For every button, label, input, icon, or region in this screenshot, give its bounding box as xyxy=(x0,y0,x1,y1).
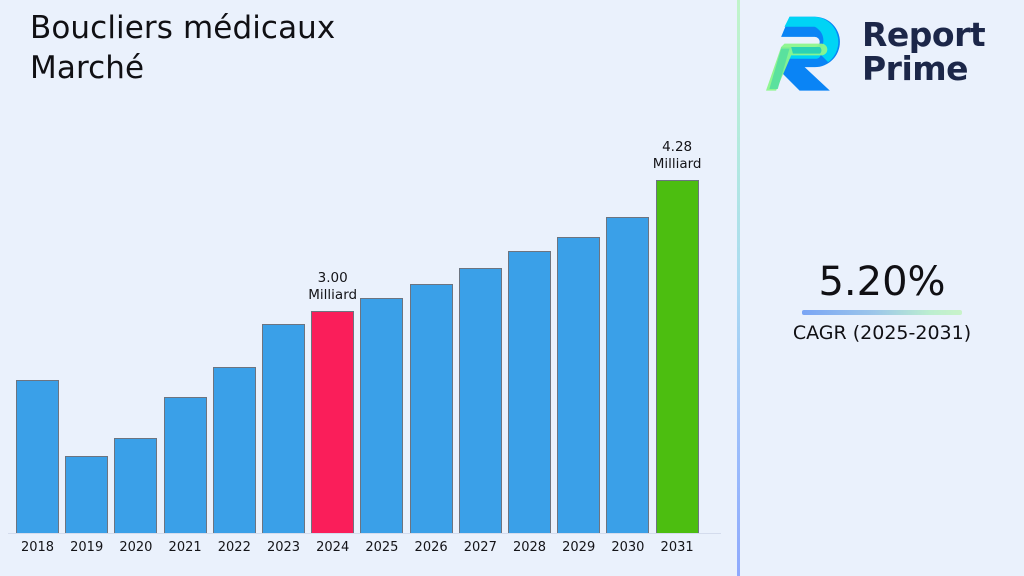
bar-2029[interactable] xyxy=(557,237,600,534)
brand-name: Report Prime xyxy=(862,18,985,86)
cagr-block: 5.20% CAGR (2025-2031) xyxy=(740,258,1024,345)
x-axis-line xyxy=(8,533,721,534)
bar-2022[interactable] xyxy=(213,367,256,534)
x-tick-2031: 2031 xyxy=(647,540,707,555)
brand-logo[interactable]: Report Prime xyxy=(765,10,985,94)
bar-2030[interactable] xyxy=(606,217,649,534)
bar-2024[interactable] xyxy=(311,311,354,534)
cagr-rule xyxy=(802,310,962,315)
bar-2020[interactable] xyxy=(114,438,157,534)
bar-2021[interactable] xyxy=(164,397,207,534)
bar-value-label-2031: 4.28Milliard xyxy=(617,139,737,173)
bar-2025[interactable] xyxy=(360,298,403,534)
bar-value-number-2024: 3.00 xyxy=(273,270,393,287)
bar-2026[interactable] xyxy=(410,284,453,534)
bar-value-label-2024: 3.00Milliard xyxy=(273,270,393,304)
bar-value-unit-2024: Milliard xyxy=(273,287,393,304)
chart-plot-area xyxy=(8,0,723,534)
bar-2028[interactable] xyxy=(508,251,551,534)
brand-panel: Report Prime 5.20% CAGR (2025-2031) xyxy=(740,0,1024,576)
bar-value-unit-2031: Milliard xyxy=(617,156,737,173)
brand-name-line-1: Report xyxy=(862,18,985,52)
report-prime-r-logo-icon xyxy=(765,10,851,94)
bar-2018[interactable] xyxy=(16,380,59,534)
report-slide: Boucliers médicaux Marché 20182019202020… xyxy=(0,0,1024,576)
brand-name-line-2: Prime xyxy=(862,52,985,86)
bar-2023[interactable] xyxy=(262,324,305,534)
bar-value-number-2031: 4.28 xyxy=(617,139,737,156)
bar-2031[interactable] xyxy=(656,180,699,534)
cagr-label: CAGR (2025-2031) xyxy=(740,321,1024,345)
bar-2019[interactable] xyxy=(65,456,108,534)
cagr-value: 5.20% xyxy=(740,258,1024,306)
bar-chart: 2018201920202021202220232024202520262027… xyxy=(0,0,737,576)
bar-2027[interactable] xyxy=(459,268,502,534)
